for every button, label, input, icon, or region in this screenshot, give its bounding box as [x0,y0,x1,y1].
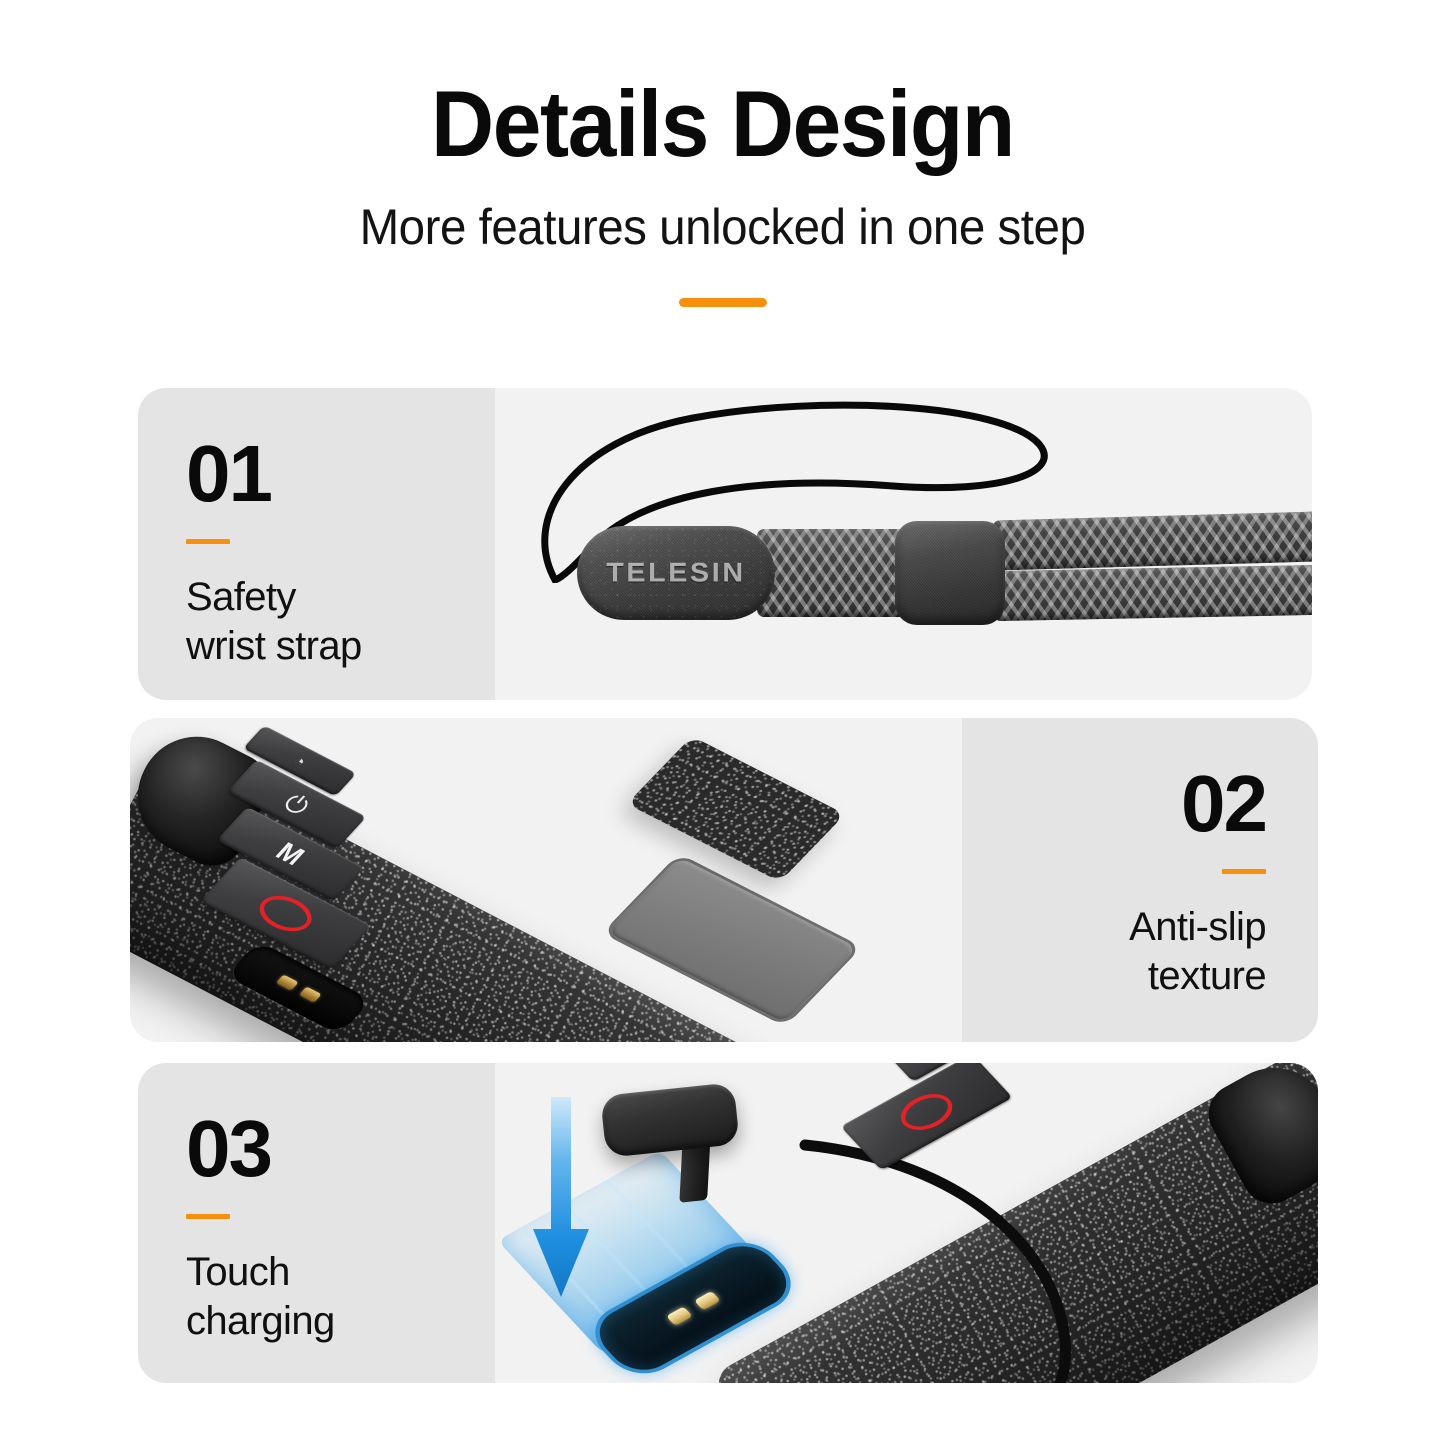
feature-number-01: 01 [186,436,495,512]
power-icon: ⏻ [278,790,314,819]
feature-number-rule-03 [186,1214,230,1219]
brand-label: TELESIN [571,558,781,589]
record-ring-icon [892,1087,961,1138]
feature-card-01: 01 Safety wrist strap TELESIN [138,388,1312,700]
feature-number-rule-02 [1222,869,1266,874]
braided-cord-strand-lower [993,565,1312,621]
pogo-pin-icon [694,1290,721,1309]
braided-cord-strand-upper [992,511,1312,570]
feature-number-02: 02 [962,766,1266,842]
feature-text-panel-02: 02 Anti-slip texture [962,718,1318,1042]
touch-charging-illustration: ⏻ M [495,1063,1318,1383]
page-title: Details Design [51,74,1395,174]
strap-slider-bead [895,521,1005,625]
feature-photo-panel-01: TELESIN [495,388,1312,700]
mode-letter: M [269,837,311,871]
feature-card-02: 02 Anti-slip texture ◔ ⏻ [130,718,1318,1042]
feature-photo-panel-02: ◔ ⏻ M [130,718,962,1042]
charging-cable [795,1137,1215,1383]
record-ring-icon [251,889,321,939]
feature-card-03: 03 Touch charging ⏻ M [138,1063,1318,1383]
down-arrow-icon [531,1097,591,1305]
pogo-pin-icon [299,986,322,1002]
wrist-strap-illustration: TELESIN [495,388,1312,700]
feature-number-03: 03 [186,1111,495,1187]
feature-label-02: Anti-slip texture [962,903,1266,1001]
accent-divider [679,298,767,307]
feature-label-03: Touch charging [186,1248,495,1346]
feature-text-panel-01: 01 Safety wrist strap [138,388,495,700]
timer-icon: ◔ [289,752,310,770]
feature-number-rule-01 [186,539,230,544]
page-header: Details Design More features unlocked in… [0,0,1445,307]
pogo-pin-icon [276,974,299,990]
anti-slip-grip-illustration: ◔ ⏻ M [130,718,962,1042]
feature-label-01: Safety wrist strap [186,573,495,671]
product-detail-page: Details Design More features unlocked in… [0,0,1445,1445]
magnetic-connector[interactable] [600,1082,740,1158]
feature-text-panel-03: 03 Touch charging [138,1063,495,1383]
pogo-pin-icon [666,1306,693,1325]
page-subtitle: More features unlocked in one step [36,198,1409,256]
feature-photo-panel-03: ⏻ M [495,1063,1318,1383]
strap-end-cap: TELESIN [577,526,775,620]
anti-slip-texture-chip [627,736,846,882]
